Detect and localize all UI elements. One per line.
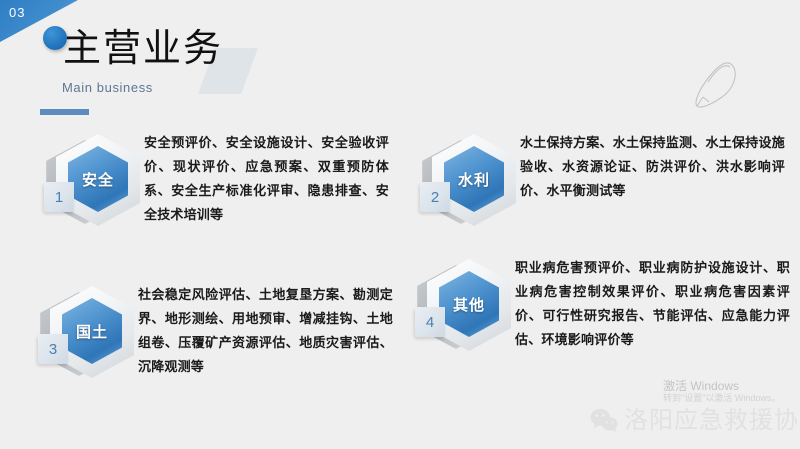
hexagon-badge: 水利 2	[420, 130, 520, 230]
badge-number-tab: 1	[44, 182, 74, 212]
hexagon-badge: 国土 3	[38, 282, 138, 382]
badge-number-tab: 4	[415, 307, 445, 337]
wechat-account-watermark: 洛阳应急救援协会	[590, 399, 800, 441]
hexagon-badge: 安全 1	[44, 130, 144, 230]
badge-label: 其他	[453, 294, 485, 315]
badge-number: 2	[431, 189, 439, 206]
badge-label: 国土	[76, 321, 108, 342]
business-item-text: 职业病危害预评价、职业病防护设施设计、职业病危害控制效果评价、职业病危害因素评价…	[515, 257, 790, 353]
business-item-text: 社会稳定风险评估、土地复垦方案、勘测定界、地形测绘、用地预审、增减挂钩、土地组卷…	[138, 284, 393, 380]
badge-label: 安全	[82, 169, 114, 190]
badge-number-tab: 2	[420, 182, 450, 212]
wechat-account-name: 洛阳应急救援协会	[624, 406, 800, 434]
slide-canvas: 03 主营业务 Main business 安全 1	[0, 0, 800, 449]
badge-number: 3	[49, 341, 57, 358]
hexagon-badge: 其他 4	[415, 255, 515, 355]
business-item-text: 安全预评价、安全设施设计、安全验收评价、现状评价、应急预案、双重预防体系、安全生…	[144, 132, 389, 228]
badge-label: 水利	[458, 169, 490, 190]
wechat-icon	[590, 407, 618, 433]
badge-number: 1	[55, 189, 63, 206]
badge-number-tab: 3	[38, 334, 68, 364]
business-items-grid: 安全 1 安全预评价、安全设施设计、安全验收评价、现状评价、应急预案、双重预防体…	[0, 0, 800, 449]
business-item-text: 水土保持方案、水土保持监测、水土保持设施验收、水资源论证、防洪评价、洪水影响评价…	[520, 132, 785, 204]
badge-number: 4	[426, 314, 434, 331]
